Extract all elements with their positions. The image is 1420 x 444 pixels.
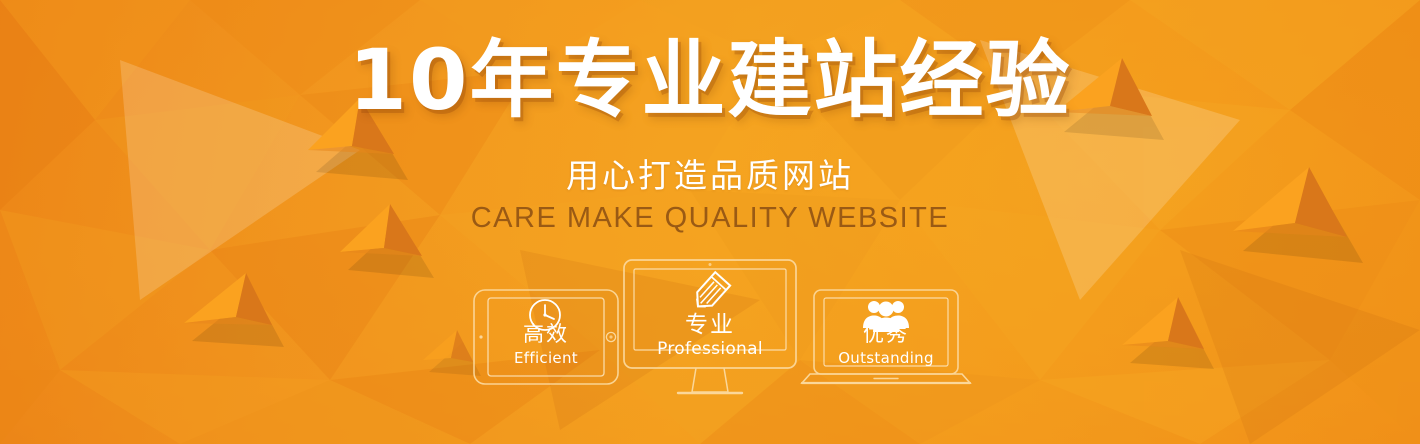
- pencil-icon: [682, 268, 738, 318]
- feature-label-en-professional: Professional: [622, 339, 798, 360]
- promo-banner: 10年专业建站经验 用心打造品质网站 CARE MAKE QUALITY WEB…: [0, 0, 1420, 444]
- feature-label-cn-professional: 专业: [622, 312, 798, 338]
- feature-label-cn-efficient: 高效: [472, 322, 620, 346]
- feature-label-en-efficient: Efficient: [472, 349, 620, 368]
- feature-label-cn-outstanding: 优秀: [800, 322, 972, 346]
- feature-label-en-outstanding: Outstanding: [800, 349, 972, 368]
- device-illustrations: 高效 Efficient: [0, 0, 1420, 444]
